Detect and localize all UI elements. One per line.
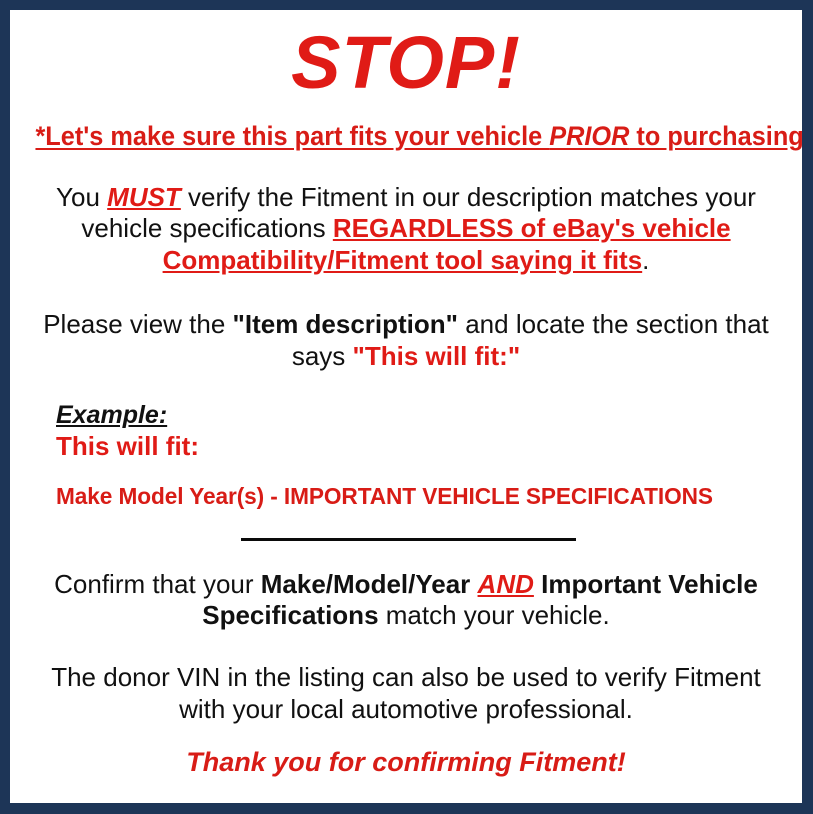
make-model-year-emphasis: Make/Model/Year (261, 569, 471, 599)
must-emphasis: MUST (107, 182, 181, 212)
confirm-seg-3 (470, 569, 477, 599)
itemdesc-seg-1: Please view the (43, 309, 232, 339)
page-title: STOP! (10, 26, 802, 100)
example-block: Example: This will fit: Make Model Year(… (10, 402, 802, 509)
fitment-notice-inner: STOP! *Let's make sure this part fits yo… (10, 10, 802, 803)
and-emphasis: AND (478, 569, 534, 599)
confirm-seg-1: Confirm that your (54, 569, 261, 599)
paragraph-donor-vin: The donor VIN in the listing can also be… (10, 662, 802, 725)
tagline-emphasis: PRIOR (549, 121, 629, 151)
tagline-suffix: to purchasing* (629, 121, 802, 151)
this-will-fit-emphasis: "This will fit:" (353, 341, 521, 371)
closing-thanks: Thank you for confirming Fitment! (10, 748, 802, 778)
paragraph-confirm: Confirm that your Make/Model/Year AND Im… (10, 569, 802, 632)
divider (10, 535, 802, 545)
tagline: *Let's make sure this part fits your veh… (28, 122, 784, 152)
fitment-notice-card: STOP! *Let's make sure this part fits yo… (0, 0, 813, 814)
paragraph-item-description: Please view the "Item description" and l… (10, 309, 802, 372)
example-label: Example: (56, 402, 802, 430)
tagline-prefix: *Let's make sure this part fits your veh… (35, 121, 549, 151)
confirm-seg-7: match your vehicle. (379, 600, 610, 630)
example-spec-line: Make Model Year(s) - IMPORTANT VEHICLE S… (56, 483, 791, 510)
divider-line (241, 538, 576, 541)
item-description-emphasis: "Item description" (233, 309, 458, 339)
must-seg-1: You (56, 182, 107, 212)
must-seg-5: . (642, 245, 649, 275)
paragraph-must-verify: You MUST verify the Fitment in our descr… (10, 182, 802, 277)
example-this-will-fit: This will fit: (56, 432, 802, 462)
